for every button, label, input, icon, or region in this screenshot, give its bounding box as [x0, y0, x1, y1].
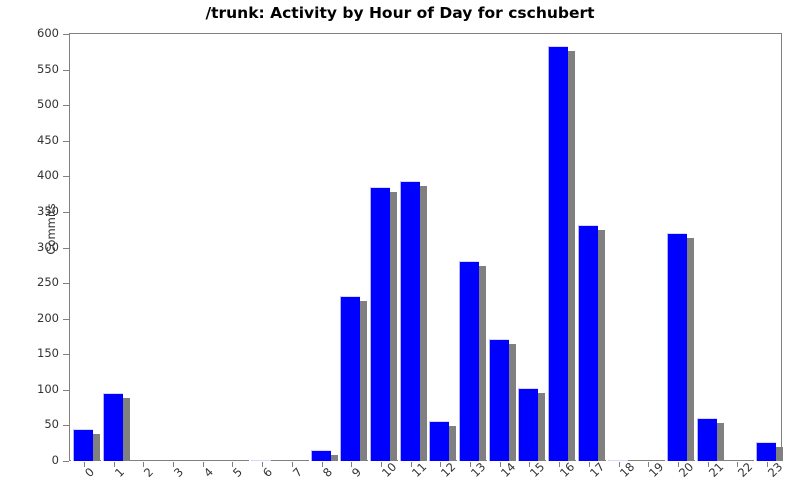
bar-hour-9[interactable]: [340, 296, 360, 461]
x-axis-tick-label: 20: [676, 460, 696, 480]
bar-hour-23[interactable]: [756, 442, 776, 461]
x-axis-tick-label: 5: [230, 465, 245, 480]
x-axis-tick-label: 8: [320, 465, 335, 480]
bar-hour-13[interactable]: [459, 261, 479, 461]
y-axis-tick-label: 150: [37, 346, 59, 360]
y-axis-tick-label: 300: [37, 240, 59, 254]
chart-title: /trunk: Activity by Hour of Day for csch…: [0, 4, 800, 22]
y-axis-tick-label: 500: [37, 97, 59, 111]
x-axis-tick-label: 9: [349, 465, 364, 480]
x-axis-tick-label: 22: [735, 460, 755, 480]
x-axis-tick-label: 12: [438, 460, 458, 480]
y-axis-tick-label: 50: [44, 417, 59, 431]
bar-hour-15[interactable]: [518, 388, 538, 461]
bar-hour-21[interactable]: [697, 418, 717, 461]
y-axis-tick-label: 450: [37, 133, 59, 147]
y-axis-tick-label: 350: [37, 204, 59, 218]
x-axis-tick-label: 19: [646, 460, 666, 480]
bar-hour-16[interactable]: [548, 46, 568, 461]
x-axis-tick-label: 15: [527, 460, 547, 480]
bar-hour-0[interactable]: [73, 429, 93, 461]
y-axis-tick-label: 0: [52, 453, 59, 467]
x-axis-tick-label: 23: [765, 460, 785, 480]
x-axis-tick-label: 16: [557, 460, 577, 480]
bar-hour-1[interactable]: [103, 393, 123, 461]
y-axis-tick-label: 100: [37, 382, 59, 396]
x-axis-tick-label: 2: [141, 465, 156, 480]
x-axis-tick-label: 6: [260, 465, 275, 480]
bar-hour-10[interactable]: [370, 187, 390, 461]
y-axis-tick-label: 550: [37, 62, 59, 76]
x-axis-tick-label: 0: [82, 465, 97, 480]
bar-hour-8[interactable]: [311, 450, 331, 461]
bar-hour-14[interactable]: [489, 339, 509, 461]
y-axis-label: Commits: [44, 169, 58, 289]
y-axis-tick-label: 400: [37, 168, 59, 182]
y-axis-tick-label: 200: [37, 311, 59, 325]
x-axis-tick-label: 4: [201, 465, 216, 480]
bar-hour-11[interactable]: [400, 181, 420, 461]
bar-hour-12[interactable]: [429, 421, 449, 461]
bar-hour-17[interactable]: [578, 225, 598, 461]
activity-by-hour-chart: /trunk: Activity by Hour of Day for csch…: [0, 0, 800, 500]
y-axis-tick-label: 600: [37, 26, 59, 40]
y-axis-tick-label: 250: [37, 275, 59, 289]
y-axis-tick-mark: [63, 461, 69, 462]
x-axis-tick-label: 13: [468, 460, 488, 480]
x-axis-tick-label: 7: [290, 465, 305, 480]
x-axis-tick-label: 3: [171, 465, 186, 480]
bar-hour-20[interactable]: [667, 233, 687, 461]
x-axis-tick-label: 1: [112, 465, 127, 480]
